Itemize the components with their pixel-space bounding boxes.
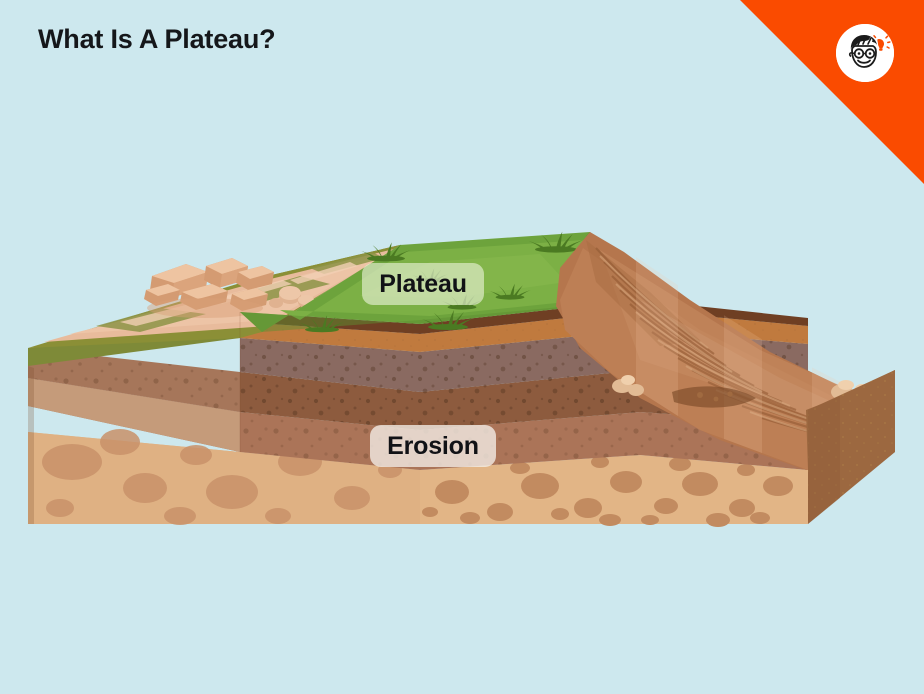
orange-corner-triangle (740, 0, 924, 184)
kid-with-idea-lightbulb-logo (836, 24, 894, 82)
brand-corner (740, 0, 924, 184)
boulder-cluster-left (144, 258, 274, 318)
label-erosion: Erosion (370, 425, 496, 467)
slide-canvas: What Is A Plateau? (0, 0, 924, 694)
label-plateau: Plateau (362, 263, 484, 305)
brand-logo-badge[interactable] (836, 24, 894, 82)
